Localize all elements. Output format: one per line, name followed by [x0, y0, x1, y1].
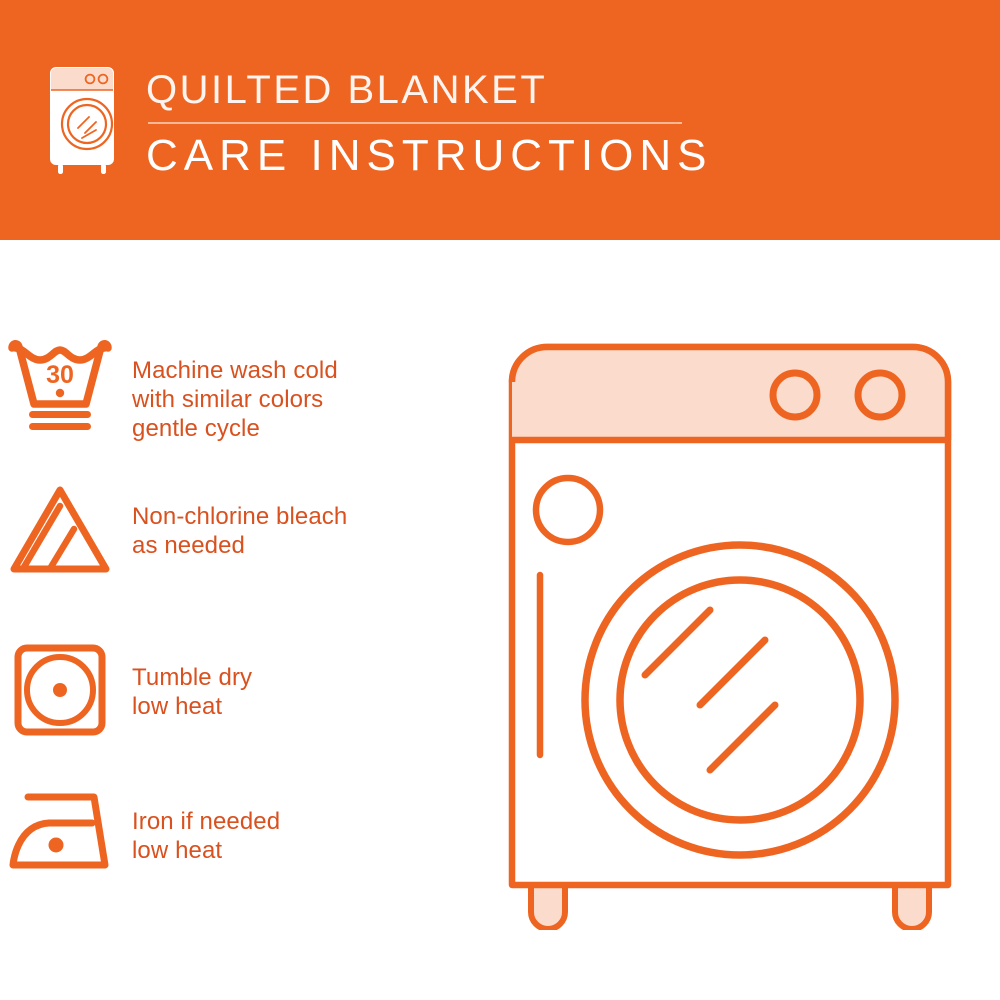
washing-machine-icon [44, 62, 122, 178]
front-load-washing-machine-illustration [495, 330, 965, 930]
care-label-line: gentle cycle [132, 414, 338, 443]
header-banner: QUILTED BLANKET CARE INSTRUCTIONS [0, 0, 1000, 240]
care-label-line: Iron if needed [132, 807, 280, 836]
care-label-line: as needed [132, 531, 347, 560]
wash-tub-icon: 30 [0, 330, 120, 438]
care-label-tumble-dry: Tumble dry low heat [120, 635, 252, 721]
care-row-iron: Iron if needed low heat [0, 785, 280, 881]
care-label-line: low heat [132, 692, 252, 721]
washer-control-panel [512, 347, 948, 440]
title-divider [148, 122, 682, 124]
care-label-line: Machine wash cold [132, 356, 338, 385]
care-label-machine-wash: Machine wash cold with similar colors ge… [120, 330, 338, 443]
care-label-line: with similar colors [132, 385, 338, 414]
tumble-dry-icon [0, 635, 120, 743]
bleach-triangle-icon [0, 480, 120, 580]
wash-temperature-value: 30 [46, 361, 74, 389]
iron-icon [0, 785, 120, 881]
care-row-machine-wash: 30 Machine wash cold with similar colors… [0, 330, 338, 443]
care-row-bleach: Non-chlorine bleach as needed [0, 480, 347, 580]
header-title-block: QUILTED BLANKET CARE INSTRUCTIONS [146, 66, 846, 182]
care-label-line: Tumble dry [132, 663, 252, 692]
page-title: QUILTED BLANKET [146, 66, 846, 114]
care-label-iron: Iron if needed low heat [120, 785, 280, 865]
care-label-bleach: Non-chlorine bleach as needed [120, 480, 347, 560]
page-subtitle: CARE INSTRUCTIONS [146, 130, 846, 182]
care-row-tumble-dry: Tumble dry low heat [0, 635, 252, 743]
care-label-line: Non-chlorine bleach [132, 502, 347, 531]
care-label-line: low heat [132, 836, 280, 865]
